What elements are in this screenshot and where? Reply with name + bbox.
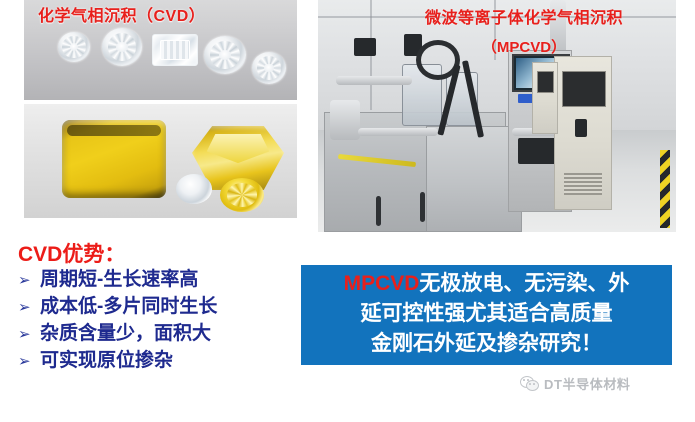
list-item: ➢ 周期短-生长速率高 — [18, 267, 290, 294]
arrow-bullet-icon: ➢ — [18, 349, 31, 375]
mpcvd-equipment-photo: 微波等离子体化学气相沉积 （MPCVD） — [318, 0, 676, 232]
callout-line-1: MPCVD无极放电、无污染、外 — [344, 269, 630, 299]
side-cabinet-secondary — [532, 62, 558, 134]
cabinet-vent — [564, 173, 602, 195]
hpht-crystals-photo: 高压高温（HPHT）法 — [24, 104, 297, 218]
list-item-label: 成本低-多片同时生长 — [40, 294, 217, 320]
cabinet-handle — [420, 192, 425, 222]
watermark-text: DT半导体材料 — [544, 374, 631, 393]
callout-highlight-term: MPCVD — [344, 272, 420, 295]
mpcvd-photo-label-line2: （MPCVD） — [394, 36, 654, 57]
side-cabinet — [554, 56, 612, 210]
yellow-crystal-slab-icon — [62, 120, 166, 198]
cabinet-handle — [376, 196, 381, 226]
mpcvd-photo-label-line1: 微波等离子体化学气相沉积 — [394, 4, 654, 28]
diamond-icon — [58, 32, 90, 62]
cabinet-window — [562, 71, 606, 107]
diamond-icon — [176, 174, 212, 204]
gas-pipe — [358, 128, 438, 136]
advantages-title: CVD优势： — [18, 243, 290, 267]
list-item: ➢ 杂质含量少，面积大 — [18, 321, 290, 348]
hazard-stripe-marker — [660, 150, 670, 228]
cvd-photo-label: 化学气相沉积（CVD） — [38, 2, 205, 26]
slide-canvas: 化学气相沉积（CVD） 高压高温（HPHT）法 — [0, 0, 695, 422]
gas-pipe — [336, 76, 412, 85]
cvd-diamonds-photo: 化学气相沉积（CVD） — [24, 0, 297, 100]
motor-block — [354, 38, 376, 56]
arrow-bullet-icon: ➢ — [18, 295, 31, 321]
callout-line-3: 金刚石外延及掺杂研究！ — [371, 329, 602, 359]
arrow-bullet-icon: ➢ — [18, 268, 31, 294]
left-image-stack: 化学气相沉积（CVD） 高压高温（HPHT）法 — [24, 0, 297, 218]
list-item: ➢ 成本低-多片同时生长 — [18, 294, 290, 321]
advantages-list: ➢ 周期短-生长速率高 ➢ 成本低-多片同时生长 ➢ 杂质含量少，面积大 ➢ 可… — [18, 267, 290, 375]
wechat-icon — [520, 376, 539, 391]
wechat-bubble-small — [526, 380, 539, 391]
list-item-label: 周期短-生长速率高 — [40, 267, 198, 293]
list-item: ➢ 可实现原位掺杂 — [18, 348, 290, 375]
gas-pipe — [330, 100, 360, 140]
callout-line-1-rest: 无极放电、无污染、外 — [419, 272, 629, 295]
list-item-label: 杂质含量少，面积大 — [40, 321, 211, 347]
mpcvd-callout-box: MPCVD无极放电、无污染、外 延可控性强尤其适合高质量 金刚石外延及掺杂研究！ — [301, 265, 672, 365]
list-item-label: 可实现原位掺杂 — [40, 348, 173, 374]
callout-line-2: 延可控性强尤其适合高质量 — [361, 299, 613, 329]
cabinet-window — [537, 71, 554, 93]
diamond-icon — [102, 28, 142, 66]
diamond-icon — [204, 36, 246, 74]
watermark: DT半导体材料 — [520, 374, 631, 393]
diamond-emerald-icon — [152, 34, 198, 66]
cvd-advantages-block: CVD优势： ➢ 周期短-生长速率高 ➢ 成本低-多片同时生长 ➢ 杂质含量少，… — [18, 243, 290, 375]
diamond-icon — [252, 52, 286, 84]
yellow-round-diamond-icon — [220, 178, 264, 212]
arrow-bullet-icon: ➢ — [18, 322, 31, 348]
cabinet-panel — [575, 119, 587, 137]
